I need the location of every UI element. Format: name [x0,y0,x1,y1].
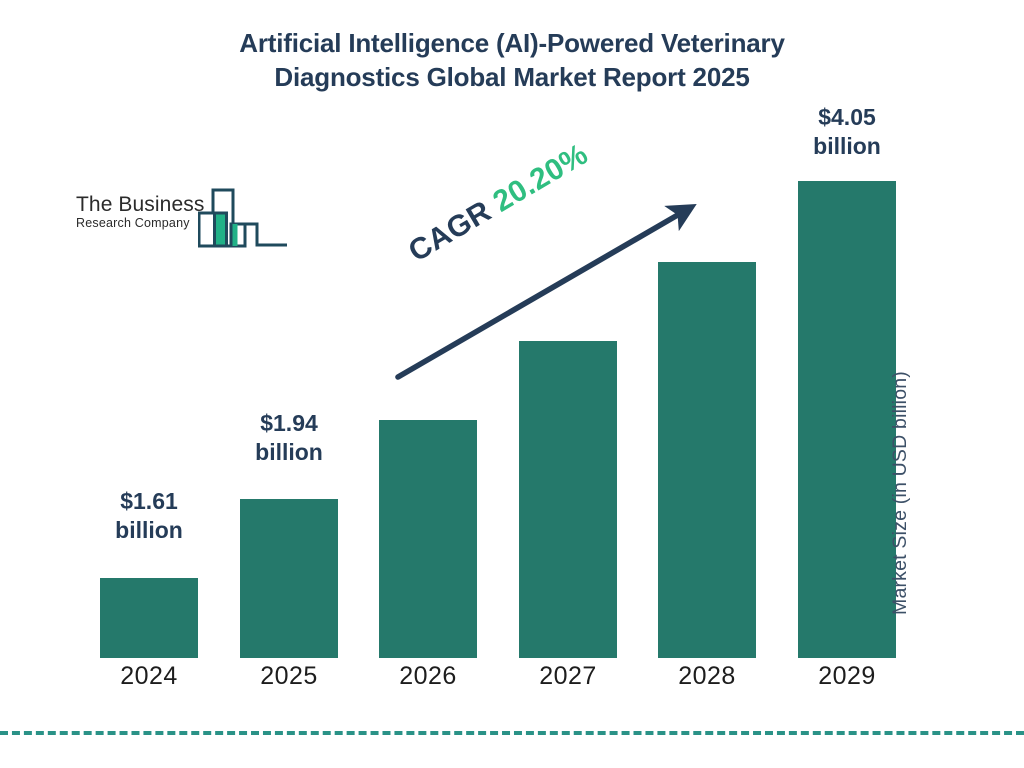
bar-2025[interactable] [240,499,338,658]
x-tick-2028: 2028 [647,662,767,691]
footer-divider [0,731,1024,735]
bar-2027[interactable] [519,341,617,658]
bar-value-2029: $4.05 billion [787,103,907,161]
plot-area: $1.61 billion $1.94 billion $4.05 billio… [0,0,1024,768]
x-tick-2024: 2024 [89,662,209,691]
x-tick-2026: 2026 [368,662,488,691]
bar-2024[interactable] [100,578,198,658]
bar-value-2024-unit: billion [89,516,209,545]
bar-value-2025: $1.94 billion [229,409,349,467]
bar-value-2029-unit: billion [787,132,907,161]
bar-value-2029-amount: $4.05 [787,103,907,132]
bar-value-2024-amount: $1.61 [89,487,209,516]
x-tick-2025: 2025 [229,662,349,691]
bar-2028[interactable] [658,262,756,658]
bar-value-2025-amount: $1.94 [229,409,349,438]
bar-2029[interactable] [798,181,896,658]
bar-value-2025-unit: billion [229,438,349,467]
y-axis-title: Market Size (in USD billion) [889,318,912,668]
chart-canvas: Artificial Intelligence (AI)-Powered Vet… [0,0,1024,768]
bar-value-2024: $1.61 billion [89,487,209,545]
x-tick-2027: 2027 [508,662,628,691]
bar-2026[interactable] [379,420,477,658]
